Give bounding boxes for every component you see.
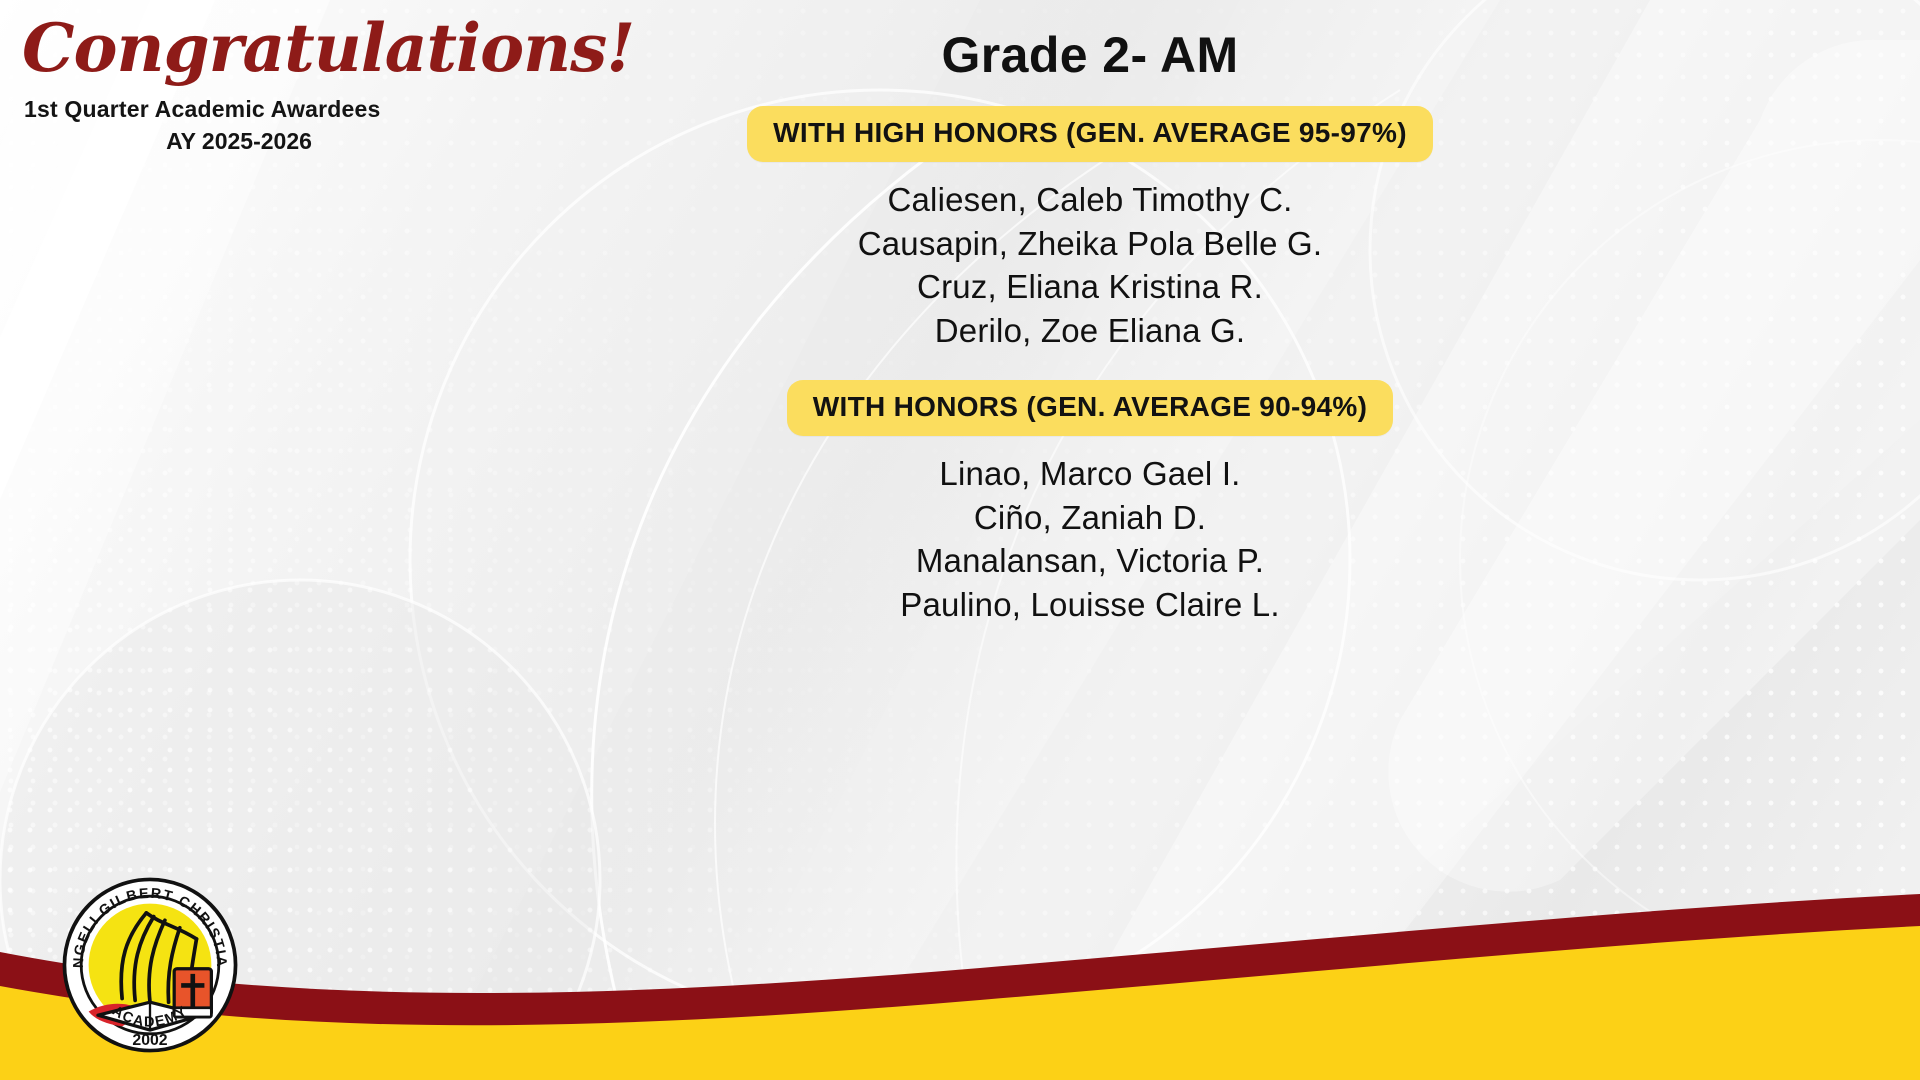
banner-with-honors: WITH HONORS (GEN. AVERAGE 90-94%) xyxy=(787,380,1393,436)
list-item: Caliesen, Caleb Timothy C. xyxy=(887,178,1292,222)
list-item: Manalansan, Victoria P. xyxy=(916,539,1264,583)
list-item: Linao, Marco Gael I. xyxy=(939,452,1240,496)
congratulations-title: Congratulations! xyxy=(14,14,574,84)
list-item: Ciño, Zaniah D. xyxy=(974,496,1206,540)
high-honors-name-list: Caliesen, Caleb Timothy C. Causapin, Zhe… xyxy=(858,178,1323,352)
list-item: Causapin, Zheika Pola Belle G. xyxy=(858,222,1323,266)
list-item: Derilo, Zoe Eliana G. xyxy=(935,309,1246,353)
banner-with-high-honors: WITH HIGH HONORS (GEN. AVERAGE 95-97%) xyxy=(747,106,1433,162)
subtitle-quarter: 1st Quarter Academic Awardees xyxy=(14,96,574,123)
slide-canvas: Congratulations! 1st Quarter Academic Aw… xyxy=(0,0,1920,1080)
subtitle-academic-year: AY 2025-2026 xyxy=(14,128,454,155)
honors-name-list: Linao, Marco Gael I. Ciño, Zaniah D. Man… xyxy=(900,452,1279,626)
header-block: Congratulations! 1st Quarter Academic Aw… xyxy=(14,14,574,155)
footer-wave xyxy=(0,890,1920,1080)
list-item: Paulino, Louisse Claire L. xyxy=(900,583,1279,627)
logo-founding-year: 2002 xyxy=(132,1032,167,1049)
school-logo: ANGELI GILBERT CHRISTIAN ACADEMY 2002 xyxy=(57,872,243,1058)
main-content: Grade 2- AM WITH HIGH HONORS (GEN. AVERA… xyxy=(560,26,1620,626)
list-item: Cruz, Eliana Kristina R. xyxy=(917,265,1263,309)
grade-title: Grade 2- AM xyxy=(941,26,1238,84)
